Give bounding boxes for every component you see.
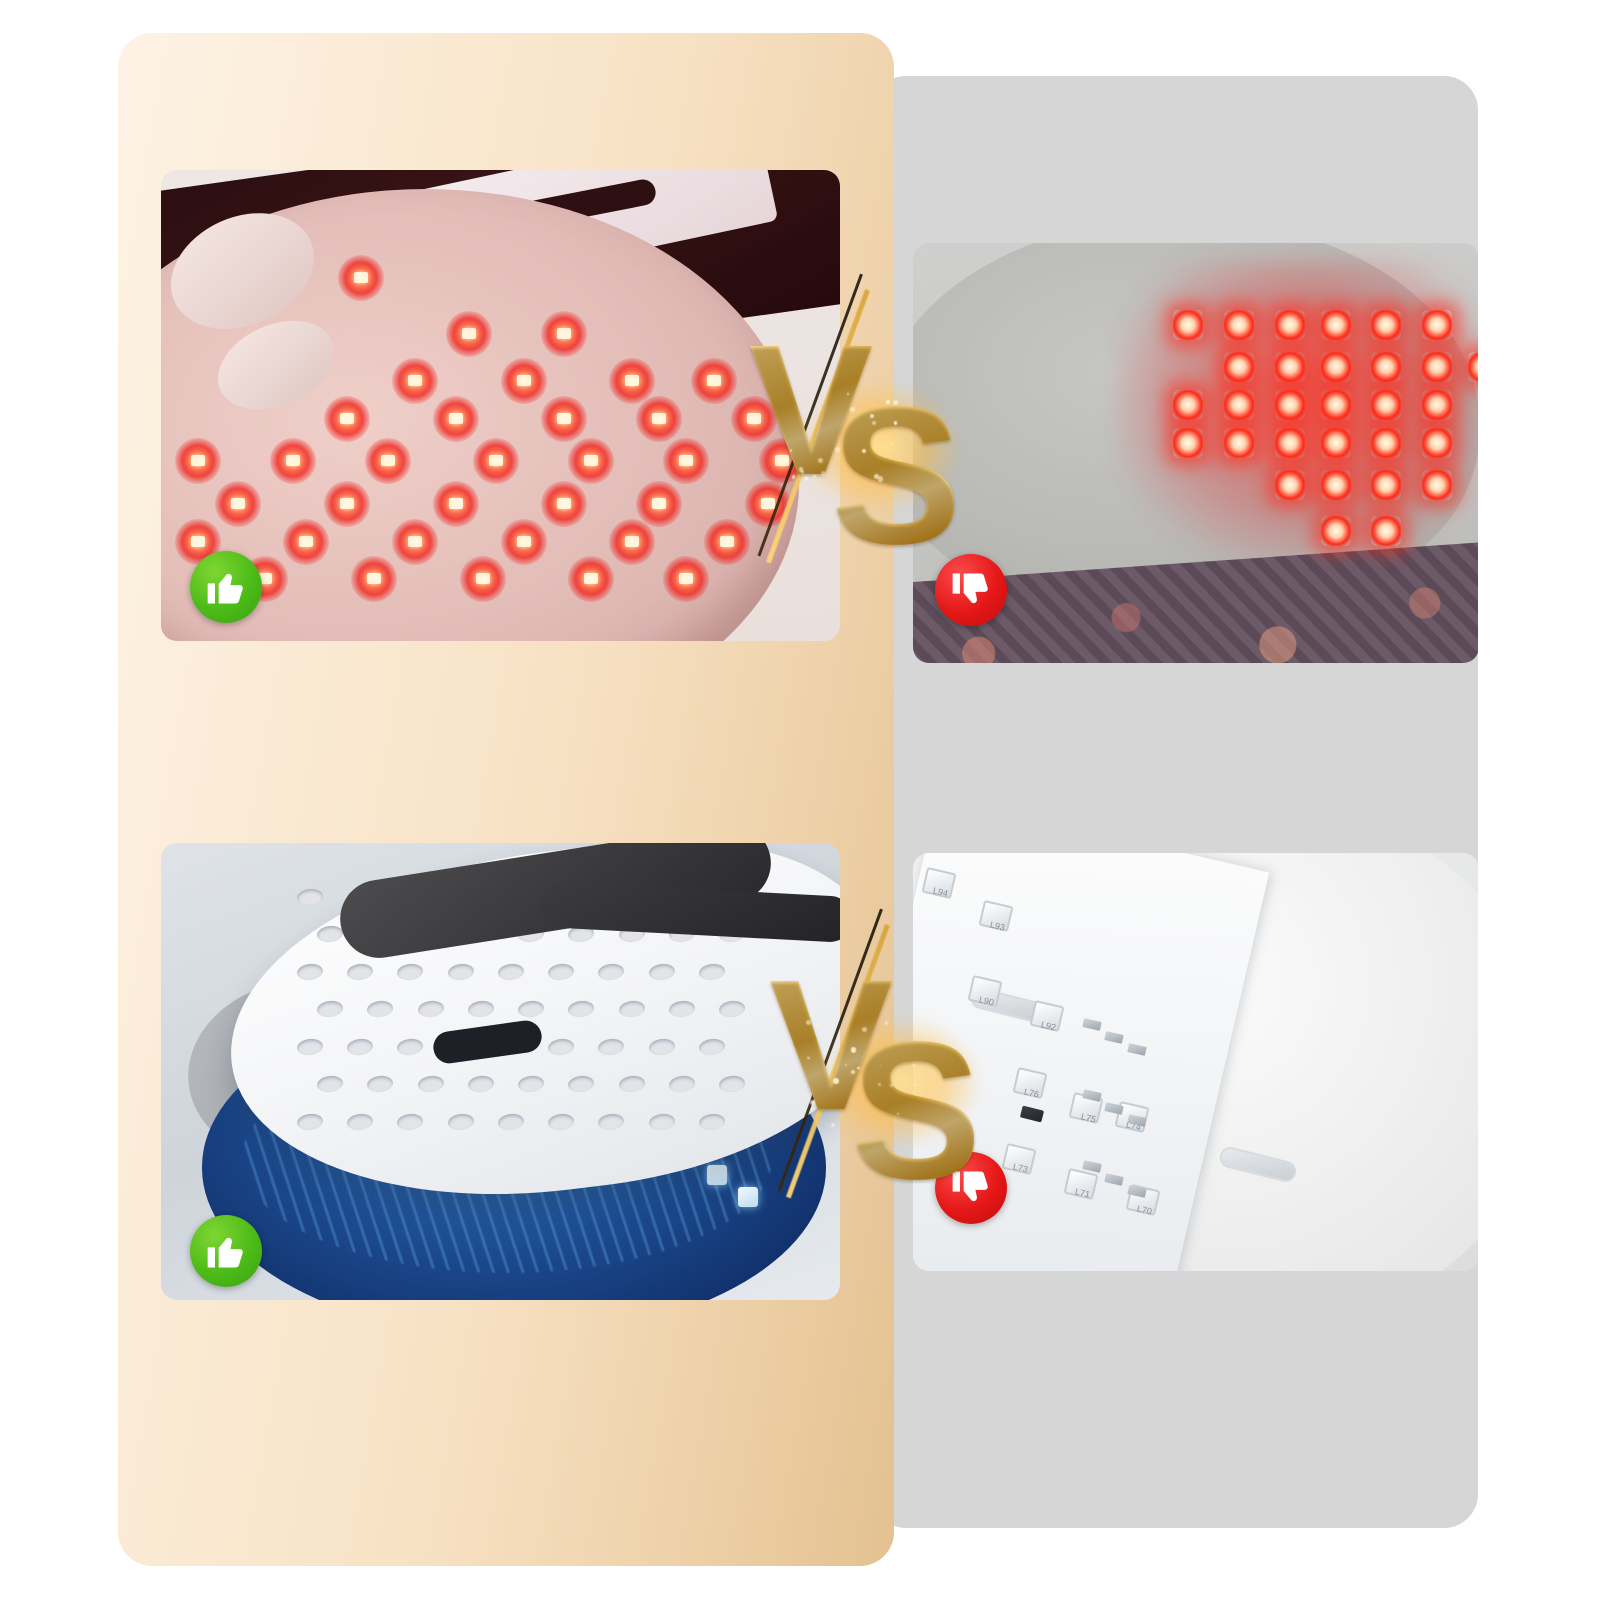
lamp-bead [283, 519, 329, 565]
lamp-bead [324, 396, 370, 442]
lamp-bead [270, 438, 316, 484]
mask-perforation [296, 887, 324, 906]
led-chip [738, 1187, 758, 1207]
light-bead [1173, 310, 1203, 340]
other-column-panel: L94L93L90L92L76L75L74L73L71L70 [872, 76, 1478, 1528]
lamp-bead [541, 481, 587, 527]
light-bead [1321, 390, 1351, 420]
light-bead [1371, 428, 1401, 458]
light-bead [1468, 352, 1478, 382]
light-bead [1371, 470, 1401, 500]
thumbs-up-icon [190, 551, 262, 623]
light-bead [1371, 352, 1401, 382]
light-bead [1275, 390, 1305, 420]
light-bead [1321, 310, 1351, 340]
led-chip [707, 1165, 727, 1185]
lamp-bead [351, 556, 397, 602]
light-bead [1224, 428, 1254, 458]
lamp-bead [501, 358, 547, 404]
lamp-bead [704, 519, 750, 565]
light-bead [1224, 352, 1254, 382]
light-bead [1371, 516, 1401, 546]
light-bead [1422, 428, 1452, 458]
lamp-bead [691, 358, 737, 404]
lamp-bead [392, 519, 438, 565]
light-bead [1224, 310, 1254, 340]
light-bead [1321, 470, 1351, 500]
lamp-bead [433, 481, 479, 527]
light-bead [1275, 470, 1305, 500]
light-bead [1321, 516, 1351, 546]
our-photo-led-mask [161, 170, 840, 641]
lamp-bead [324, 481, 370, 527]
lamp-bead [460, 556, 506, 602]
light-bead [1224, 390, 1254, 420]
lamp-bead [745, 481, 791, 527]
our-photo-fpc-layers [161, 843, 840, 1300]
light-bead [1275, 352, 1305, 382]
lamp-bead [175, 438, 221, 484]
lamp-bead [392, 358, 438, 404]
light-bead [1422, 390, 1452, 420]
light-bead [1422, 470, 1452, 500]
lamp-bead [636, 481, 682, 527]
light-bead [1321, 352, 1351, 382]
thumbs-down-icon [935, 554, 1007, 626]
light-bead [1422, 352, 1452, 382]
light-bead [1371, 310, 1401, 340]
lamp-bead [433, 396, 479, 442]
light-bead [1275, 310, 1305, 340]
lamp-bead [759, 438, 805, 484]
light-bead [1422, 310, 1452, 340]
light-bead [1321, 428, 1351, 458]
comparison-infographic: L94L93L90L92L76L75L74L73L71L70 [0, 0, 1600, 1600]
light-bead [1275, 428, 1305, 458]
light-bead [1371, 390, 1401, 420]
lamp-bead [215, 481, 261, 527]
lamp-bead [338, 255, 384, 301]
lamp-bead [609, 519, 655, 565]
lamp-bead [501, 519, 547, 565]
our-column-panel [118, 33, 894, 1566]
lamp-bead [365, 438, 411, 484]
thumbs-down-icon [935, 1152, 1007, 1224]
thumbs-up-icon [190, 1215, 262, 1287]
light-bead [1173, 390, 1203, 420]
light-bead [1173, 428, 1203, 458]
lamp-bead [541, 396, 587, 442]
